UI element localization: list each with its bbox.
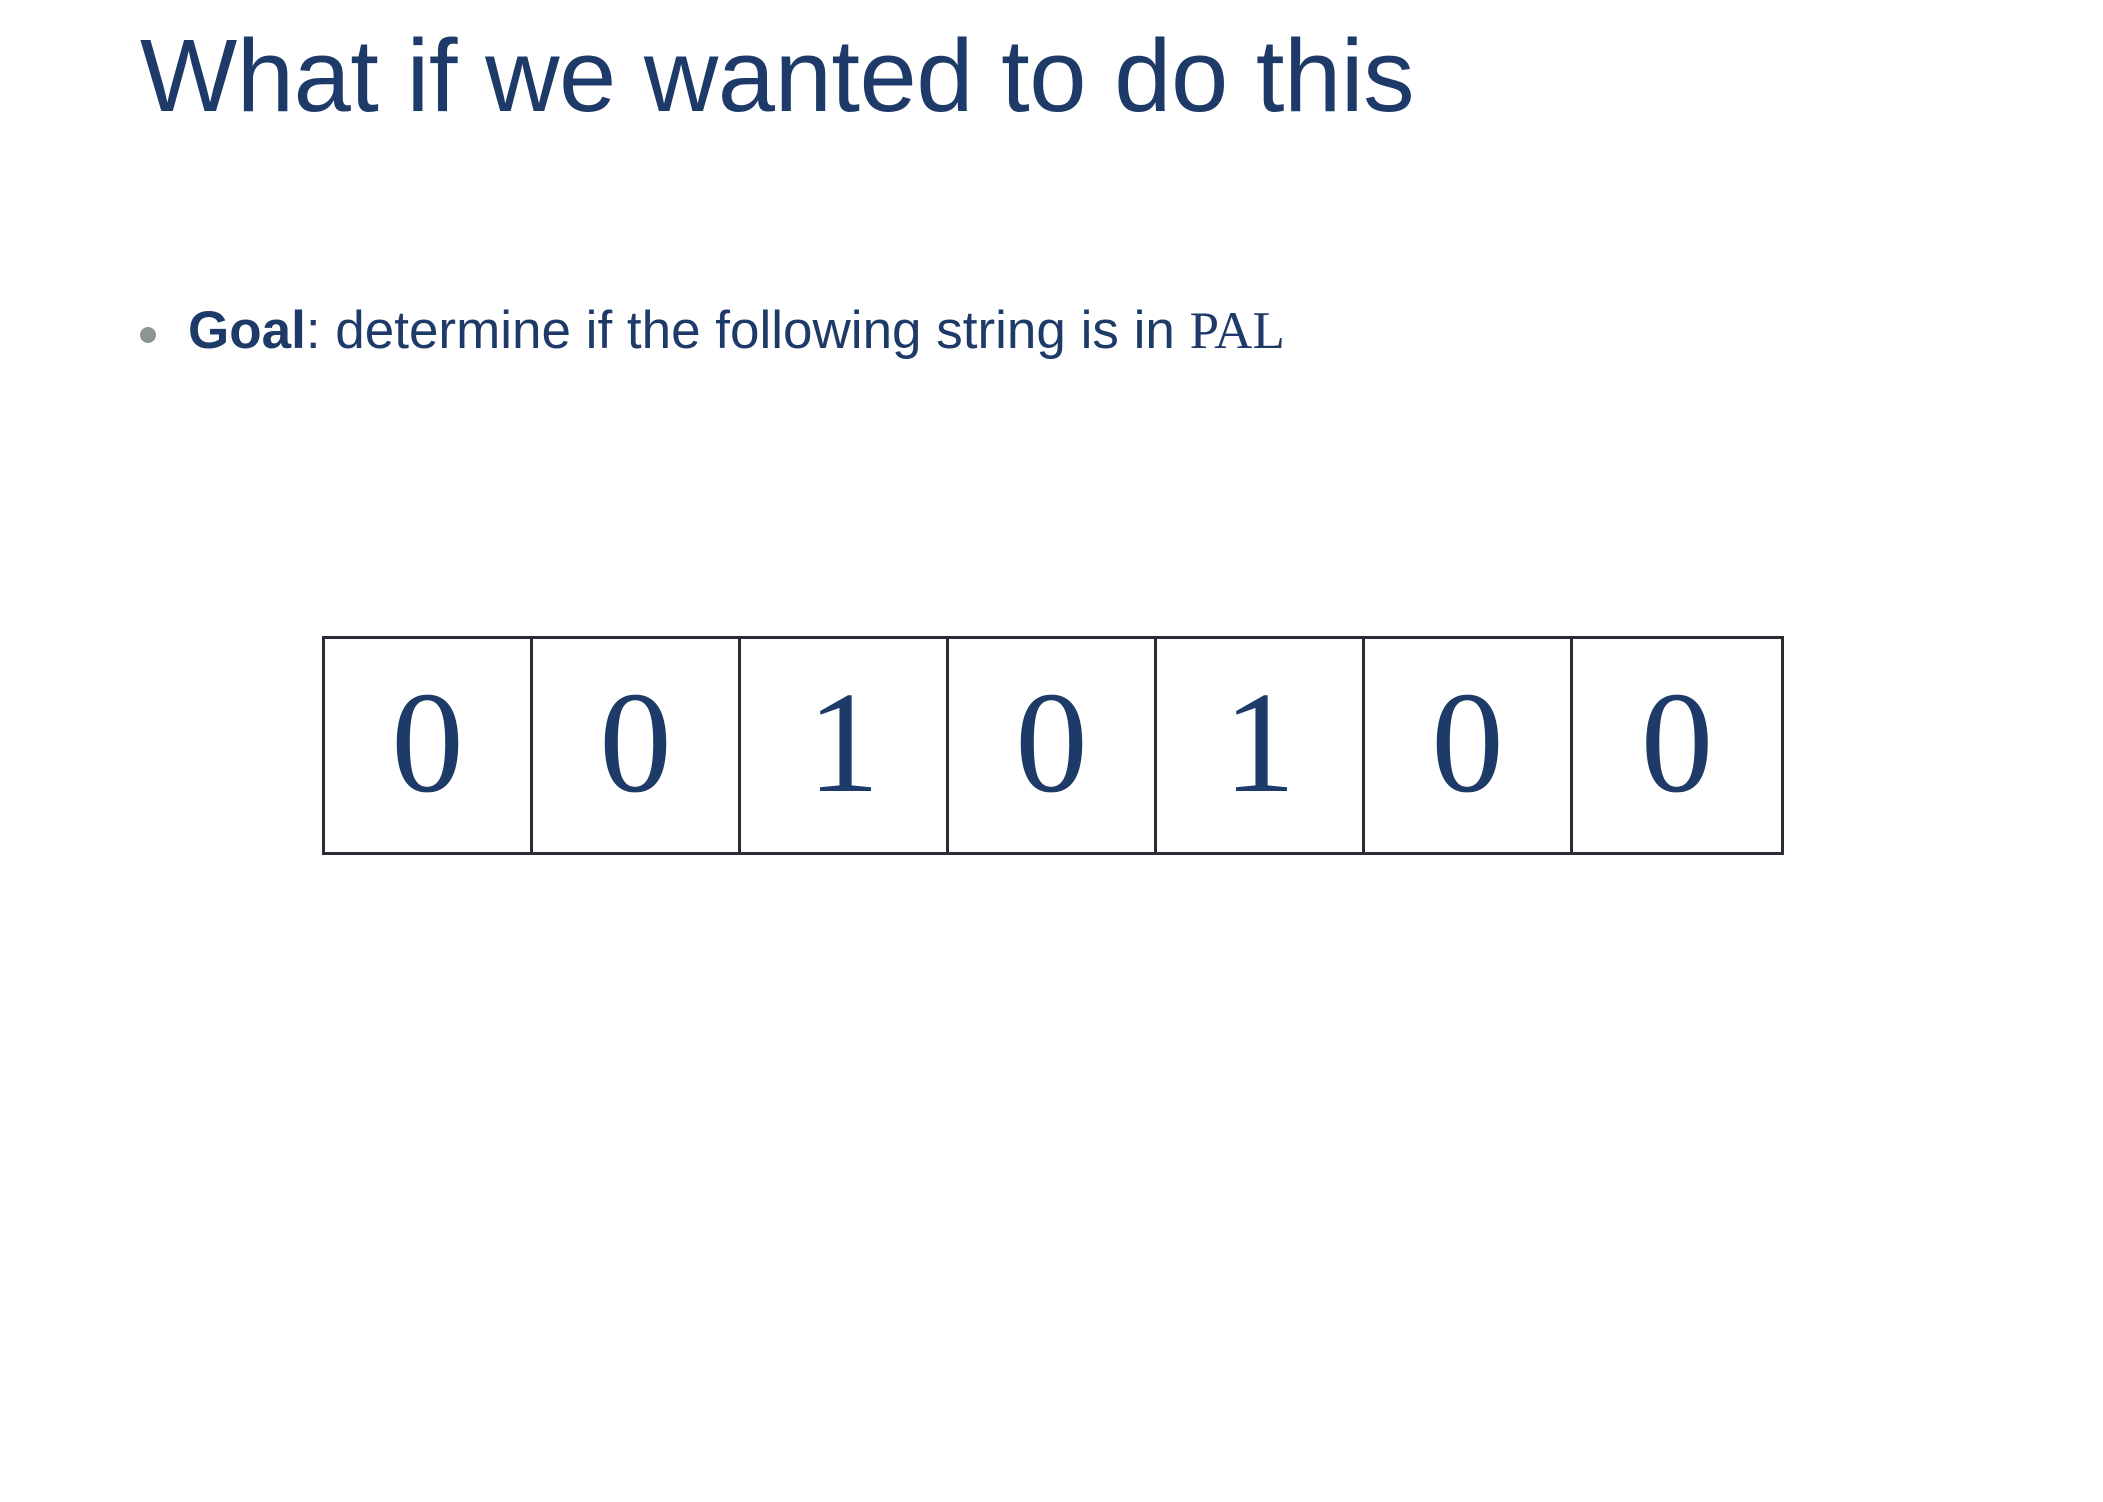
slide-canvas: What if we wanted to do this Goal: deter…	[0, 0, 2103, 1502]
tape-cell: 0	[1365, 639, 1573, 852]
tape-cell-symbol: 0	[599, 671, 672, 816]
bullet-serif-term: PAL	[1190, 302, 1285, 360]
bullet-body-text: : determine if the following string is i…	[306, 301, 1190, 360]
tape-cell: 1	[741, 639, 949, 852]
bullet-list-item: Goal: determine if the following string …	[140, 300, 1990, 363]
tape-cell: 0	[325, 639, 533, 852]
bullet-lead-label: Goal	[188, 301, 306, 360]
tape-cell: 1	[1157, 639, 1365, 852]
tape-cell: 0	[533, 639, 741, 852]
bullet-dot-icon	[140, 327, 156, 343]
tape-cell-symbol: 0	[1431, 671, 1504, 816]
bullet-item-label: Goal: determine if the following string …	[188, 300, 1990, 363]
tape-cell-symbol: 0	[1641, 671, 1714, 816]
tape-cell-symbol: 1	[807, 671, 880, 816]
tape-cell: 0	[1573, 639, 1781, 852]
tape-cell-symbol: 0	[1015, 671, 1088, 816]
page-title: What if we wanted to do this	[140, 18, 1960, 133]
tape-cell: 0	[949, 639, 1157, 852]
input-string-tape: 0 0 1 0 1 0 0	[322, 636, 1784, 855]
tape-cell-symbol: 1	[1223, 671, 1296, 816]
tape-cell-symbol: 0	[391, 671, 464, 816]
